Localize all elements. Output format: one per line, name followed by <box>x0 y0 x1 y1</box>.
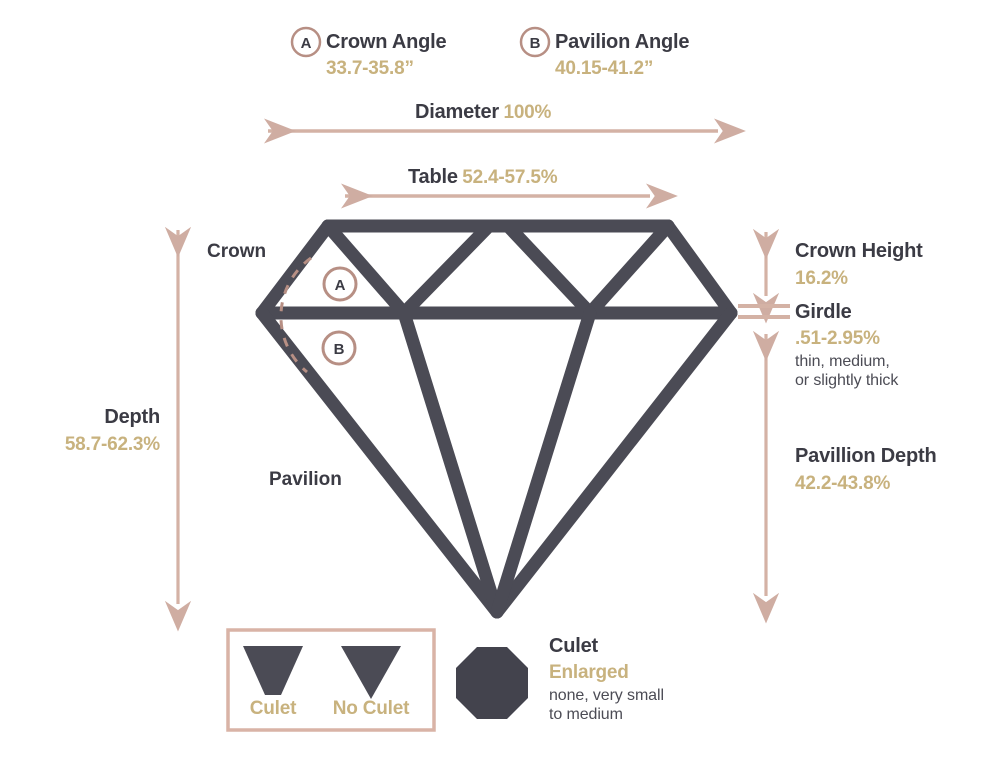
badge-a-on-diamond: A <box>324 268 356 300</box>
legend-badge-a-letter: A <box>301 35 312 52</box>
legend-badge-a: A <box>292 28 320 56</box>
culet-detail-value: Enlarged <box>549 662 664 684</box>
badge-b-letter: B <box>334 341 345 358</box>
crown-angle-label: Crown Angle <box>326 31 446 55</box>
pavilion-angle-legend: Pavilion Angle 40.15-41.2” <box>555 31 689 80</box>
crown-height-label: Crown Height <box>795 240 923 264</box>
crown-facet-right <box>590 226 668 313</box>
crown-facet-left-inner <box>404 226 489 313</box>
pavilion-angle-label: Pavilion Angle <box>555 31 689 55</box>
crown-height-label-group: Crown Height 16.2% <box>795 240 923 290</box>
culet-detail-note-line-2: to medium <box>549 706 664 725</box>
pavillion-depth-value: 42.2-43.8% <box>795 473 936 495</box>
girdle-label-group: Girdle .51-2.95% thin, medium, or slight… <box>795 301 898 391</box>
culet-triangle-shape <box>243 646 303 695</box>
crown-angle-value: 33.7-35.8” <box>326 58 446 80</box>
crown-region-label: Crown <box>207 241 266 263</box>
depth-label: Depth <box>0 406 160 430</box>
pavillion-depth-label: Pavillion Depth <box>795 445 936 469</box>
no-culet-triangle-shape <box>341 646 401 699</box>
culet-legend-with-label: Culet <box>233 698 313 720</box>
crown-height-value: 16.2% <box>795 268 923 290</box>
table-value: 52.4-57.5% <box>462 167 557 188</box>
table-label-group: Table 52.4-57.5% <box>408 166 557 190</box>
diamond-proportions-diagram: A B A B <box>0 0 1003 764</box>
pavillion-depth-label-group: Pavillion Depth 42.2-43.8% <box>795 445 936 495</box>
depth-value: 58.7-62.3% <box>0 434 160 456</box>
culet-detail-label: Culet <box>549 635 664 659</box>
girdle-note-line-2: or slightly thick <box>795 372 898 391</box>
diameter-label-group: Diameter 100% <box>415 101 551 125</box>
pavilion-facet-right <box>497 313 590 612</box>
legend-badge-b: B <box>521 28 549 56</box>
depth-label-group: Depth 58.7-62.3% <box>0 406 160 456</box>
diameter-label: Diameter <box>415 101 499 123</box>
legend-badge-b-letter: B <box>530 35 541 52</box>
badge-b-on-diamond: B <box>323 332 355 364</box>
badge-a-letter: A <box>335 277 346 294</box>
diameter-value: 100% <box>503 102 551 123</box>
pavilion-facet-left <box>404 313 497 612</box>
culet-detail-group: Culet Enlarged none, very small to mediu… <box>549 635 664 725</box>
girdle-value: .51-2.95% <box>795 328 898 350</box>
culet-octagon-shape <box>456 647 528 719</box>
girdle-note-line-1: thin, medium, <box>795 353 898 372</box>
pavilion-region-label: Pavilion <box>269 469 342 491</box>
culet-detail-note-line-1: none, very small <box>549 687 664 706</box>
table-label: Table <box>408 166 458 188</box>
crown-facet-right-inner <box>508 226 590 313</box>
girdle-label: Girdle <box>795 301 898 325</box>
girdle-marker <box>738 306 790 317</box>
crown-angle-legend: Crown Angle 33.7-35.8” <box>326 31 446 80</box>
culet-legend-without-label: No Culet <box>318 698 424 720</box>
pavilion-angle-value: 40.15-41.2” <box>555 58 689 80</box>
